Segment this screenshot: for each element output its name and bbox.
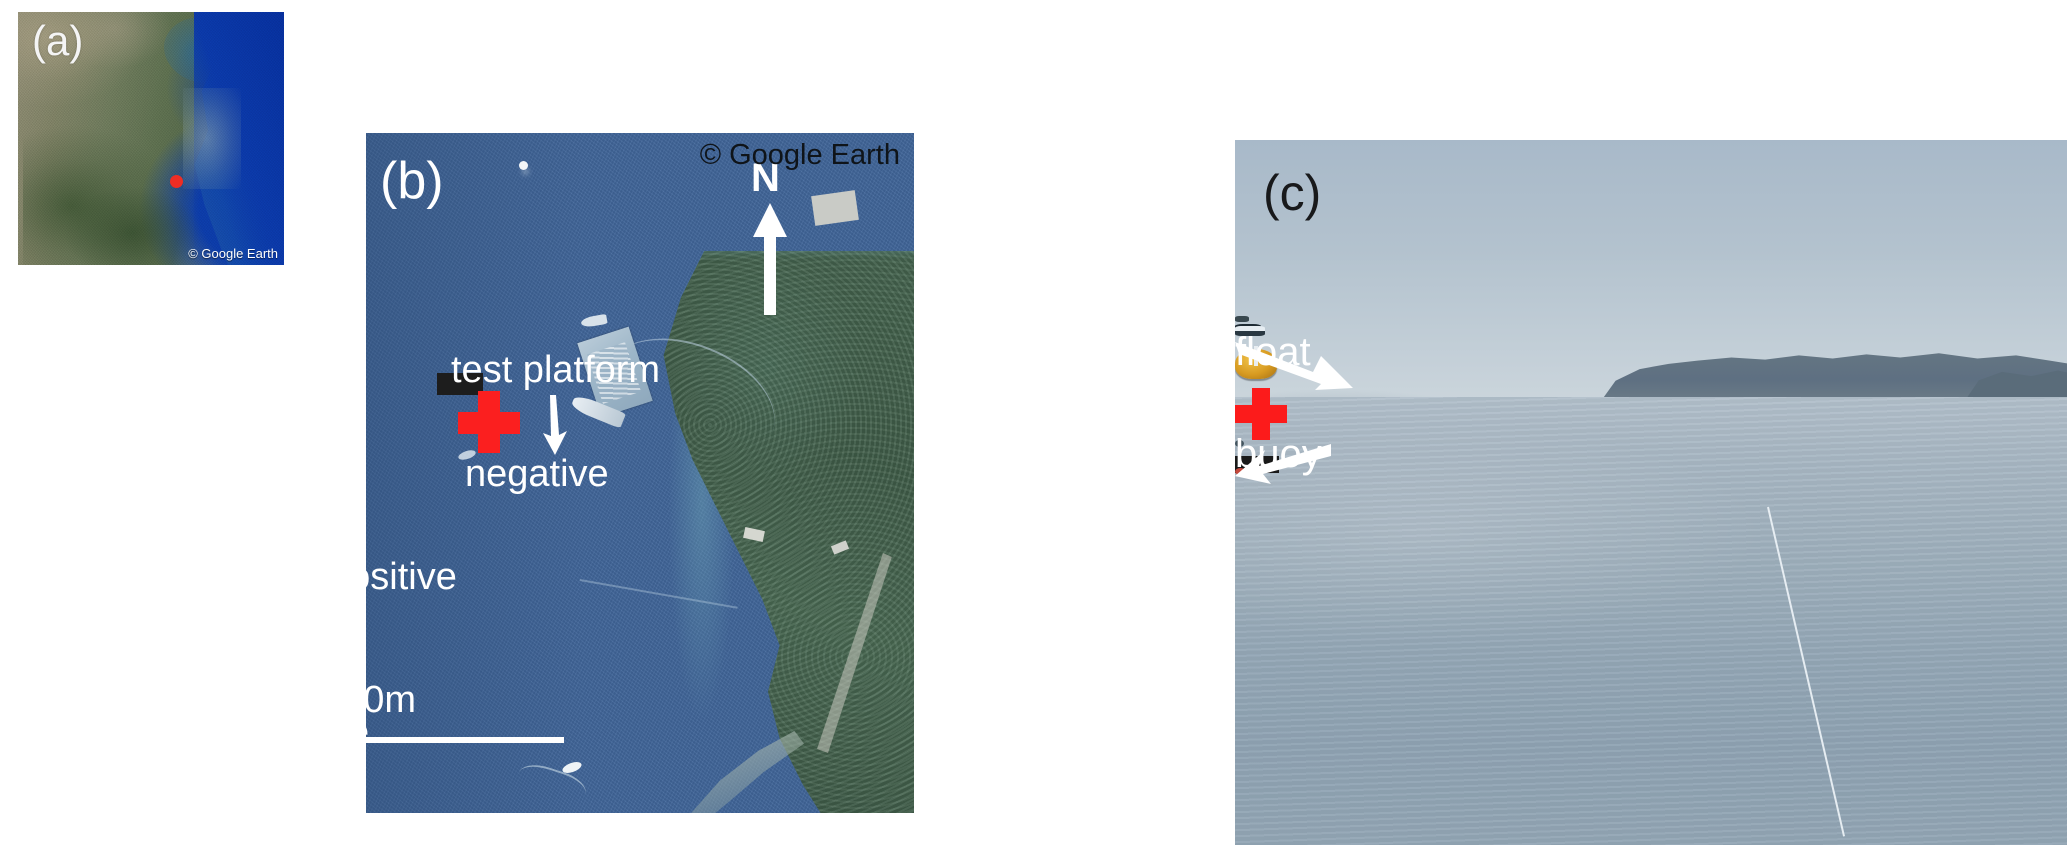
cross-vertical-bar	[478, 391, 500, 453]
panel-b-tag: (b)	[380, 155, 444, 207]
mooring-rope	[1767, 507, 2017, 845]
google-earth-attribution-a: © Google Earth	[188, 246, 278, 261]
scale-bar-label: 100m	[366, 681, 416, 719]
buoy-arrow-icon	[1235, 440, 1331, 486]
label-negative: negative	[465, 455, 609, 493]
google-earth-attribution-b: © Google Earth	[700, 139, 900, 172]
float-arrow-icon	[1235, 336, 1353, 394]
small-vessel	[519, 161, 528, 170]
panel-a-tag: (a)	[32, 20, 83, 62]
panel-c-tag: (c)	[1263, 168, 1321, 218]
building-roof	[811, 190, 859, 226]
north-arrow-icon	[753, 203, 787, 315]
positive-marker-cross	[458, 391, 520, 453]
label-positive: positive	[366, 558, 457, 596]
panel-a-regional-map: (a) © Google Earth	[18, 12, 284, 265]
label-test-platform: test platform	[451, 351, 660, 389]
site-location-dot	[170, 175, 183, 188]
panel-b-aerial-map: N test platform negative float positive …	[366, 133, 914, 813]
panel-c-field-photo: float buoy (c)	[1235, 140, 2067, 845]
test-platform-arrow-icon	[542, 395, 568, 455]
figure-root: (a) © Google Earth	[0, 0, 2067, 845]
distant-vessel	[1235, 316, 1249, 322]
scale-bar-line	[366, 737, 564, 743]
